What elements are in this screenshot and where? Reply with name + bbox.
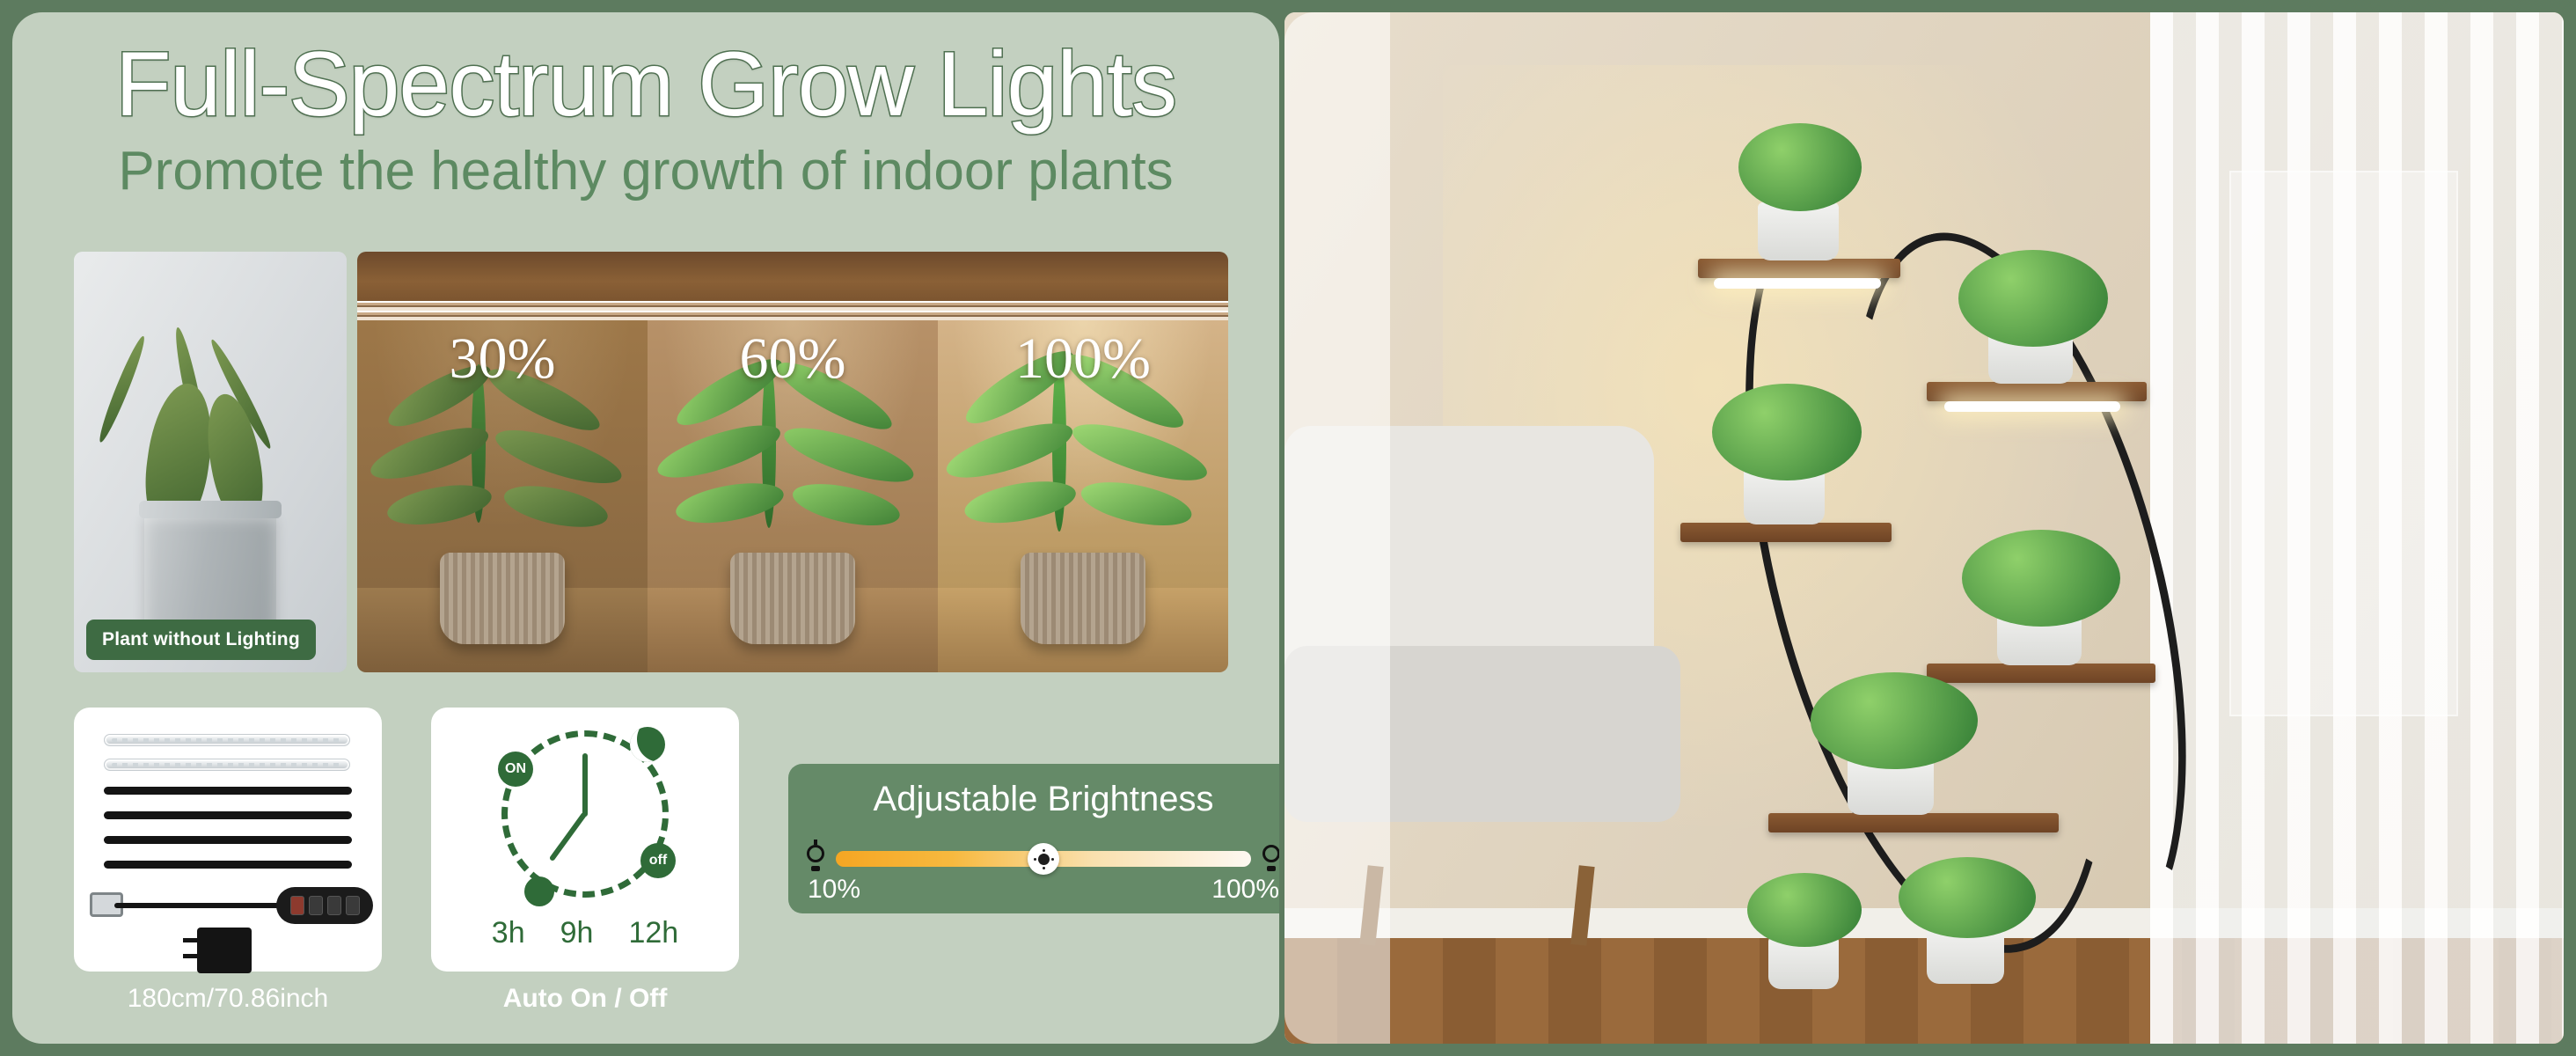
clock-hand-hour	[582, 753, 588, 817]
shelf	[1927, 664, 2155, 683]
headline-block: Full-Spectrum Grow Lights Promote the he…	[12, 33, 1279, 205]
brightness-scale: 10% 100%	[808, 875, 1279, 905]
led-light-bar	[1714, 278, 1881, 289]
bulb-bright-icon	[1260, 845, 1279, 873]
brightness-level-label: 30%	[357, 326, 648, 392]
wall-board	[357, 252, 648, 301]
brightness-title: Adjustable Brightness	[788, 764, 1279, 819]
timer-hour-option[interactable]: 3h	[492, 916, 525, 950]
shelf	[1768, 813, 2059, 832]
moon-icon	[630, 727, 665, 762]
cable-card	[74, 708, 382, 972]
palm-frond	[779, 417, 918, 493]
plant-foliage	[1712, 384, 1862, 480]
shelf	[1680, 523, 1892, 542]
led-bar	[104, 759, 350, 771]
palm-frond	[384, 479, 494, 532]
timer-hour-option[interactable]: 12h	[628, 916, 678, 950]
level-panel: 100%	[938, 252, 1228, 672]
controller-button	[346, 896, 360, 915]
page-subtitle: Promote the healthy growth of indoor pla…	[12, 139, 1279, 204]
timer-on-badge: ON	[498, 752, 533, 787]
inline-controller-icon	[276, 887, 373, 924]
wall-trim	[648, 301, 938, 320]
palm-plant	[648, 356, 938, 620]
photo-left-veil	[1284, 12, 1390, 1044]
plant-foliage	[1958, 250, 2108, 347]
timer-off-badge: off	[640, 843, 676, 878]
palm-plant	[357, 356, 648, 620]
palm-frond	[1078, 474, 1196, 534]
comparison-row: Plant without Lighting	[74, 252, 1228, 672]
wall-plug-icon	[197, 928, 252, 973]
shelf	[1698, 259, 1900, 278]
brightness-levels: 30%	[357, 252, 1228, 672]
shelf	[1927, 382, 2147, 401]
controller-button	[290, 896, 304, 915]
coiled-cable	[104, 787, 352, 892]
level-panel: 30%	[357, 252, 648, 672]
timer-caption: Auto On / Off	[431, 984, 739, 1014]
brightness-level-label: 60%	[648, 326, 938, 392]
lifestyle-photo	[1284, 12, 2564, 1044]
palm-frond	[1067, 413, 1212, 491]
slider-track[interactable]	[836, 851, 1251, 867]
brightness-min-label: 10%	[808, 875, 860, 905]
timer-feature: ON off 3h 9h 12h Auto On / Off	[431, 708, 739, 1014]
wall-trim	[938, 301, 1228, 320]
cable-feature: 180cm/70.86inch	[74, 708, 382, 1014]
plant-foliage	[1962, 530, 2120, 627]
usb-cable	[114, 903, 282, 908]
palm-plant	[938, 356, 1228, 620]
timer-hours: 3h 9h 12h	[431, 916, 739, 950]
cable-length-caption: 180cm/70.86inch	[74, 984, 382, 1014]
feature-row: 180cm/70.86inch ON off 3h 9h	[74, 708, 1279, 1014]
wall-board	[648, 252, 938, 301]
page-title: Full-Spectrum Grow Lights	[12, 33, 1279, 136]
sofa-leg	[1570, 865, 1594, 945]
controller-button	[309, 896, 323, 915]
controller-button	[327, 896, 341, 915]
led-light-bar	[1944, 401, 2120, 412]
wall-trim	[357, 301, 648, 320]
led-bars	[104, 734, 350, 783]
no-light-photo: Plant without Lighting	[74, 252, 347, 672]
promo-banner: Full-Spectrum Grow Lights Promote the he…	[0, 0, 2576, 1056]
timer-clock: ON off	[501, 730, 669, 898]
timer-card: ON off 3h 9h 12h	[431, 708, 739, 972]
plant-stand	[1663, 118, 2296, 1007]
plant-foliage	[1811, 672, 1978, 769]
palm-frond	[789, 476, 904, 533]
brightness-level-label: 100%	[938, 326, 1228, 392]
brightness-slider[interactable]	[804, 845, 1279, 873]
left-info-panel: Full-Spectrum Grow Lights Promote the he…	[12, 12, 1279, 1044]
plant-foliage	[1747, 873, 1862, 947]
wall-board	[938, 252, 1228, 301]
led-bar	[104, 734, 350, 746]
palm-frond	[501, 479, 611, 535]
bulb-dim-icon	[804, 845, 827, 873]
palm-frond	[490, 420, 626, 494]
status-badge: Plant without Lighting	[86, 620, 316, 660]
plant-foliage	[1899, 857, 2036, 938]
plant-foliage	[1738, 123, 1862, 211]
slider-thumb[interactable]	[1028, 843, 1059, 875]
level-panel: 60%	[648, 252, 938, 672]
timer-hour-option[interactable]: 9h	[560, 916, 594, 950]
brightness-card: Adjustable Brightness 10% 100%	[788, 764, 1279, 913]
brightness-max-label: 100%	[1211, 875, 1279, 905]
sun-icon	[524, 876, 554, 906]
